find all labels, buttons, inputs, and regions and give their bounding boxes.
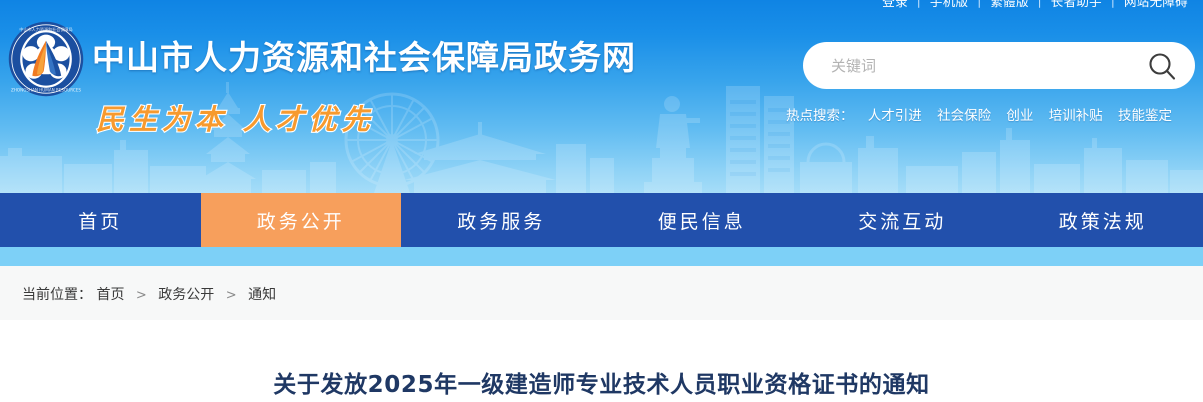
hot-search-item-skill-appraisal[interactable]: 技能鉴定: [1118, 108, 1172, 124]
site-title: 中山市人力资源和社会保障局政务网: [92, 31, 636, 79]
nav-item-home[interactable]: 首页: [0, 193, 201, 247]
svg-text:中山市人力资源和社会保障局: 中山市人力资源和社会保障局: [19, 26, 72, 32]
breadcrumb-separator: >: [226, 288, 237, 303]
top-utility-bar: 登录 | 手机版 | 繁體版 | 长者助手 | 网站无障碍: [873, 0, 1197, 11]
search-button[interactable]: [1147, 51, 1177, 81]
hot-search-item-startup[interactable]: 创业: [1006, 108, 1033, 124]
search-input[interactable]: [829, 50, 1133, 82]
hot-search-item-training-subsidy[interactable]: 培训补贴: [1049, 108, 1103, 124]
breadcrumb-item-home[interactable]: 首页: [96, 287, 124, 303]
site-banner: 登录 | 手机版 | 繁體版 | 长者助手 | 网站无障碍: [0, 0, 1203, 193]
svg-text:ZHONGSHAN HUMAN RESOURCES: ZHONGSHAN HUMAN RESOURCES: [11, 88, 81, 93]
zhongshan-hrss-emblem-icon: 中山市人力资源和社会保障局 ZHONGSHAN HUMAN RESOURCES: [8, 21, 84, 97]
breadcrumb: 当前位置： 首页 > 政务公开 > 通知: [22, 284, 276, 304]
search-box[interactable]: [803, 42, 1195, 89]
topbar-item-mobile[interactable]: 手机版: [921, 0, 977, 11]
search-icon: [1147, 51, 1177, 81]
breadcrumb-item-notice[interactable]: 通知: [248, 287, 276, 303]
site-slogan: 民生为本 人才优先: [96, 98, 375, 138]
breadcrumb-bar: 当前位置： 首页 > 政务公开 > 通知: [0, 266, 1203, 320]
topbar-item-elder-assistant[interactable]: 长者助手: [1042, 0, 1111, 11]
article-section: 关于发放2025年一级建造师专业技术人员职业资格证书的通知: [0, 320, 1203, 402]
nav-item-policies-regulations[interactable]: 政策法规: [1003, 193, 1203, 247]
topbar-item-accessibility[interactable]: 网站无障碍: [1115, 0, 1197, 11]
breadcrumb-separator: >: [136, 288, 147, 303]
nav-underline-strip: [0, 247, 1203, 266]
article-title: 关于发放2025年一级建造师专业技术人员职业资格证书的通知: [0, 365, 1203, 399]
nav-item-public-information[interactable]: 便民信息: [602, 193, 803, 247]
main-navigation: 首页 政务公开 政务服务 便民信息 交流互动 政策法规: [0, 193, 1203, 247]
breadcrumb-label: 当前位置：: [22, 287, 92, 303]
topbar-item-traditional[interactable]: 繁體版: [981, 0, 1037, 11]
nav-item-interaction[interactable]: 交流互动: [802, 193, 1003, 247]
hot-search-row: 热点搜索： 人才引进 社会保险 创业 培训补贴 技能鉴定: [786, 104, 1172, 124]
hot-search-item-insurance[interactable]: 社会保险: [937, 108, 991, 124]
hot-search-label: 热点搜索：: [786, 108, 854, 124]
breadcrumb-item-disclosure[interactable]: 政务公开: [158, 287, 214, 303]
nav-item-government-services[interactable]: 政务服务: [401, 193, 602, 247]
topbar-item-login[interactable]: 登录: [873, 0, 917, 11]
page-root: 登录 | 手机版 | 繁體版 | 长者助手 | 网站无障碍: [0, 0, 1203, 402]
nav-item-government-affairs-disclosure[interactable]: 政务公开: [201, 193, 402, 247]
hot-search-item-talent[interactable]: 人才引进: [868, 108, 922, 124]
